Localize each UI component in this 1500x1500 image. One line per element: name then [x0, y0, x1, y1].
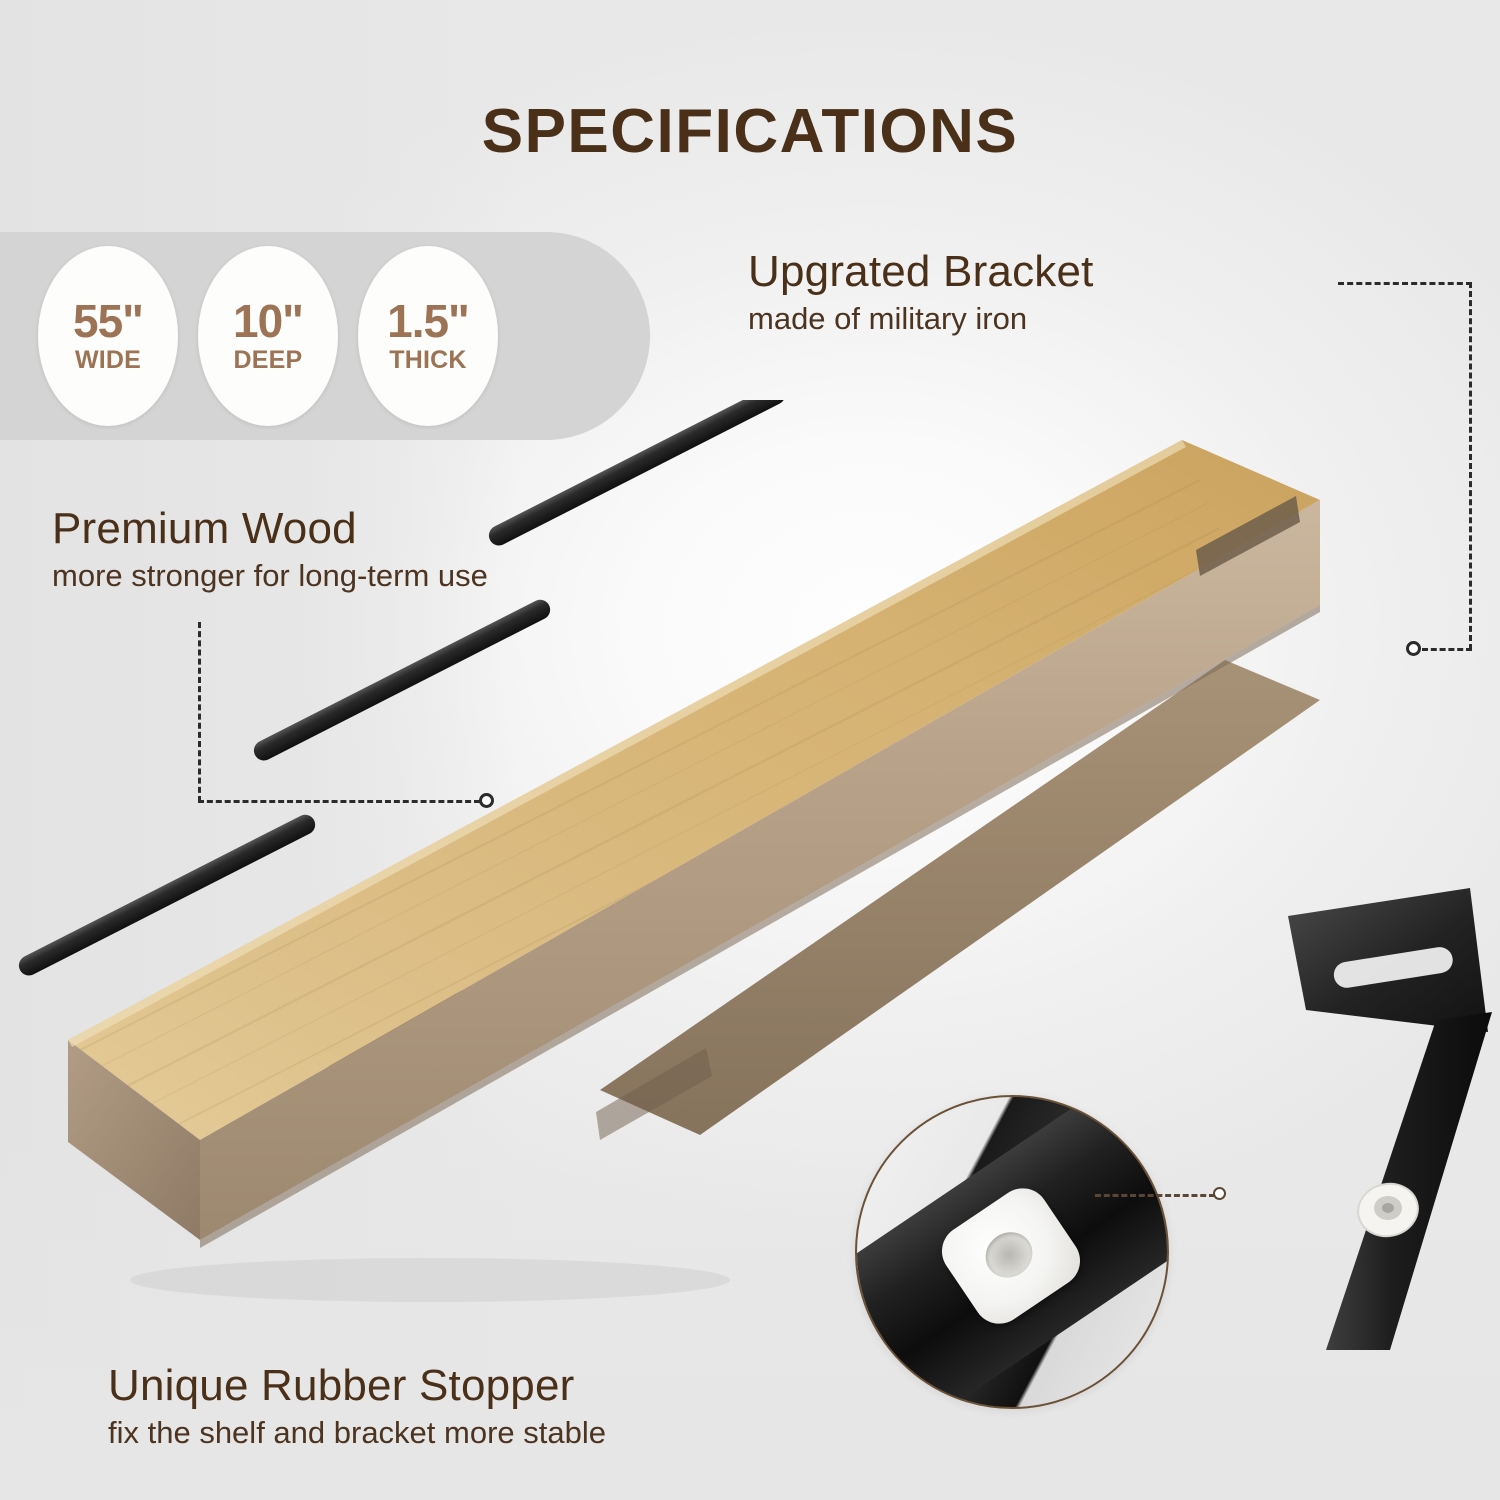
feature-wood-title: Premium Wood	[52, 505, 488, 553]
spec-badge-width-value: 55"	[73, 298, 143, 344]
bracket-leader-horizontal-top	[1338, 282, 1472, 285]
page-title: SPECIFICATIONS	[0, 96, 1500, 167]
spec-badge-depth: 10" DEEP	[198, 246, 338, 426]
spec-badge-thickness: 1.5" THICK	[358, 246, 498, 426]
stopper-leader-endpoint-dot	[1213, 1187, 1226, 1200]
bracket-leader-vertical	[1469, 282, 1472, 650]
feature-stopper-title: Unique Rubber Stopper	[108, 1362, 606, 1410]
spec-badge-depth-value: 10"	[233, 298, 303, 344]
bracket-leader-horizontal-bottom	[1422, 648, 1472, 651]
feature-callout-bracket: Upgrated Bracket made of military iron	[748, 248, 1094, 339]
rubber-stopper-magnifier-inset	[855, 1095, 1169, 1409]
infographic-canvas: SPECIFICATIONS 55" WIDE 10" DEEP 1.5" TH…	[0, 0, 1500, 1500]
spec-badge-thickness-value: 1.5"	[387, 298, 469, 344]
stopper-leader-horizontal	[1095, 1194, 1215, 1197]
wood-leader-endpoint-dot	[479, 793, 494, 808]
feature-wood-subtitle: more stronger for long-term use	[52, 557, 488, 596]
feature-bracket-subtitle: made of military iron	[748, 300, 1094, 339]
spec-badge-width-label: WIDE	[75, 346, 141, 375]
feature-callout-wood: Premium Wood more stronger for long-term…	[52, 505, 488, 596]
bracket-leader-endpoint-dot	[1406, 641, 1421, 656]
feature-stopper-subtitle: fix the shelf and bracket more stable	[108, 1414, 606, 1453]
feature-bracket-title: Upgrated Bracket	[748, 248, 1094, 296]
bracket-arm-tube	[1326, 1012, 1492, 1350]
spec-badge-thickness-label: THICK	[389, 346, 466, 375]
feature-callout-stopper: Unique Rubber Stopper fix the shelf and …	[108, 1362, 606, 1453]
spec-badge-depth-label: DEEP	[234, 346, 303, 375]
bracket-detail-piece	[1240, 880, 1500, 1360]
spec-badge-group: 55" WIDE 10" DEEP 1.5" THICK	[38, 246, 498, 426]
spec-badge-width: 55" WIDE	[38, 246, 178, 426]
wood-leader-vertical	[198, 622, 201, 802]
wood-leader-horizontal	[198, 800, 480, 803]
